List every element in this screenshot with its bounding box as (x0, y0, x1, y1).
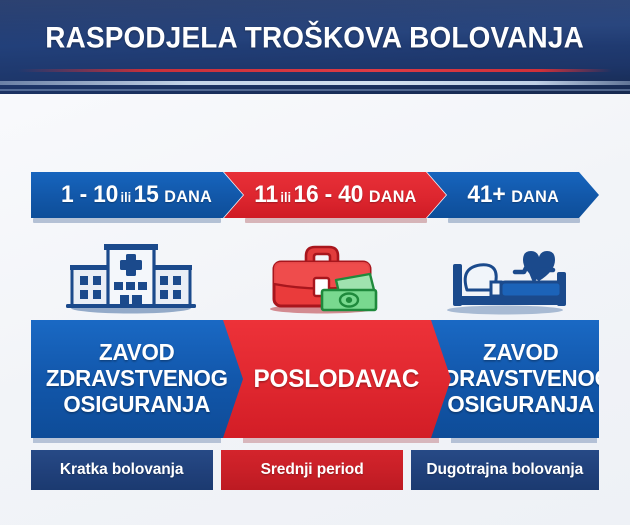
page-title: RASPODJELA TROŠKOVA BOLOVANJA (0, 22, 630, 56)
payer-panel-medium[interactable]: POSLODAVAC (221, 320, 451, 438)
badge-medium-unit: DANA (363, 187, 416, 207)
header-banner: RASPODJELA TROŠKOVA BOLOVANJA (0, 0, 630, 94)
infographic-root: RASPODJELA TROŠKOVA BOLOVANJA 1 - 10 ili… (0, 0, 630, 525)
badge-long-range-start: 41+ (467, 181, 505, 209)
caption-long-text: Dugotrajna bolovanja (427, 461, 584, 479)
caption-short-text: Kratka bolovanja (60, 461, 184, 479)
badge-shadow-medium (245, 218, 427, 223)
page-title-text: RASPODJELA TROŠKOVA BOLOVANJA (46, 22, 585, 56)
badge-medium-conjunction: ili (278, 190, 293, 205)
payer-panel-short-text: ZAVOD ZDRAVSTVENOG OSIGURANJA (46, 340, 228, 417)
panel-shadow-short (33, 438, 221, 443)
payer-long-line-3: OSIGURANJA (430, 392, 612, 418)
payer-panel-long[interactable]: ZAVOD ZDRAVSTVENOG OSIGURANJA (429, 320, 599, 438)
day-range-badge-short[interactable]: 1 - 10 ili 15 DANA (31, 172, 243, 218)
header-red-accent-rule (18, 69, 612, 72)
briefcase-money-icon (252, 238, 392, 316)
caption-short[interactable]: Kratka bolovanja (31, 450, 213, 490)
icon-cell-short (31, 238, 231, 316)
payer-short-line-3: OSIGURANJA (46, 392, 228, 418)
stage-icon-row (31, 238, 599, 316)
panel-shadow-medium (243, 438, 439, 443)
caption-long[interactable]: Dugotrajna bolovanja (411, 450, 599, 490)
badge-short-range-start: 1 - 10 (61, 181, 118, 209)
caption-bar-row: Kratka bolovanja Srednji period Dugotraj… (31, 450, 599, 490)
badge-shadow-long (448, 218, 580, 223)
payer-panel-row: ZAVOD ZDRAVSTVENOG OSIGURANJA POSLODAVAC… (31, 320, 599, 438)
panel-shadow-long (451, 438, 597, 443)
badge-short-range-alt: 15 (134, 181, 159, 209)
badge-medium-range-start: 11 (254, 181, 278, 209)
header-light-rule (0, 81, 630, 85)
badge-medium-range-alt: 16 - 40 (293, 181, 363, 209)
badge-short-unit: DANA (159, 187, 212, 207)
day-range-badge-row: 1 - 10 ili 15 DANA 11 ili 16 - 40 DANA 4… (31, 172, 599, 222)
badge-long-unit: DANA (505, 187, 558, 207)
badge-shadow-short (33, 218, 221, 223)
badge-short-conjunction: ili (119, 190, 134, 205)
payer-panel-short[interactable]: ZAVOD ZDRAVSTVENOG OSIGURANJA (31, 320, 243, 438)
payer-long-line-1: ZAVOD (430, 340, 612, 366)
caption-medium[interactable]: Srednji period (221, 450, 403, 490)
hospital-bed-heart-icon (431, 238, 581, 316)
caption-medium-text: Srednji period (260, 461, 363, 479)
day-range-badge-medium[interactable]: 11 ili 16 - 40 DANA (224, 172, 446, 218)
payer-short-line-2: ZDRAVSTVENOG (46, 366, 228, 392)
payer-short-line-1: ZAVOD (46, 340, 228, 366)
payer-medium-line-1: POSLODAVAC (253, 365, 419, 393)
icon-cell-long (413, 238, 599, 316)
hospital-icon (56, 238, 206, 316)
payer-panel-medium-text: POSLODAVAC (253, 365, 419, 393)
header-light-rule-secondary (0, 89, 630, 91)
day-range-badge-long[interactable]: 41+ DANA (427, 172, 599, 218)
payer-panel-long-text: ZAVOD ZDRAVSTVENOG OSIGURANJA (430, 340, 612, 417)
icon-cell-medium (227, 238, 417, 316)
payer-long-line-2: ZDRAVSTVENOG (430, 366, 612, 392)
